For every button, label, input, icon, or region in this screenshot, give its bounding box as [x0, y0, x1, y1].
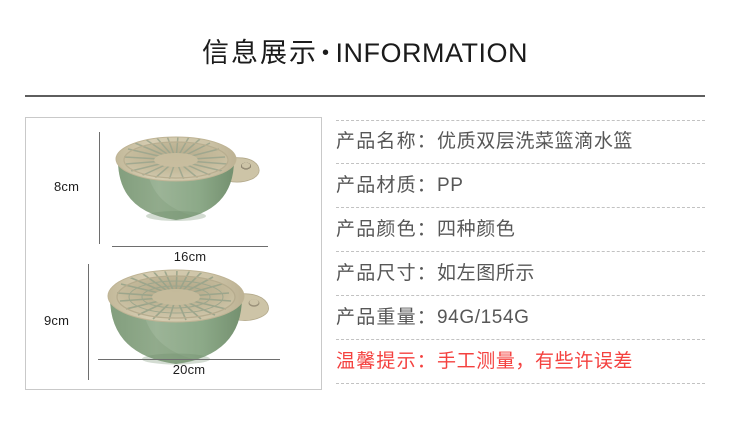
spec-material: 产品材质：PP: [336, 164, 705, 208]
height-label-small: 8cm: [54, 179, 79, 194]
spec-color-value: 四种颜色: [437, 219, 515, 240]
spec-material-label: 产品材质：: [336, 175, 437, 196]
height-measure-line-large: [88, 264, 89, 380]
spec-color: 产品颜色：四种颜色: [336, 208, 705, 252]
spec-weight: 产品重量：94G/154G: [336, 296, 705, 340]
spec-product-name-value: 优质双层洗菜篮滴水篮: [437, 131, 633, 152]
basket-figure-small: 8cm: [26, 122, 323, 256]
spec-product-name-label: 产品名称：: [336, 131, 437, 152]
spec-material-value: PP: [437, 175, 464, 196]
header-divider: [25, 95, 705, 97]
spec-notice-label: 温馨提示：: [336, 351, 437, 372]
spec-size: 产品尺寸：如左图所示: [336, 252, 705, 296]
page-title-en: INFORMATION: [336, 38, 528, 68]
title-bullet-icon: •: [318, 36, 336, 70]
height-label-large: 9cm: [44, 313, 69, 328]
basket-figure-large: 9cm: [26, 256, 323, 389]
product-dimension-panel: 8cm: [25, 117, 322, 390]
width-label-large: 20cm: [98, 362, 280, 377]
spec-notice: 温馨提示：手工测量，有些许误差: [336, 340, 705, 384]
spec-weight-label: 产品重量：: [336, 307, 437, 328]
height-measure-line-small: [99, 132, 100, 244]
strainer-basket-small-image: [104, 130, 274, 242]
spec-product-name: 产品名称：优质双层洗菜篮滴水篮: [336, 120, 705, 164]
product-spec-list: 产品名称：优质双层洗菜篮滴水篮 产品材质：PP 产品颜色：四种颜色 产品尺寸：如…: [336, 120, 705, 384]
spec-weight-value: 94G/154G: [437, 307, 529, 328]
spec-size-value: 如左图所示: [437, 263, 535, 284]
page-title: 信息展示•INFORMATION: [0, 36, 730, 73]
spec-color-label: 产品颜色：: [336, 219, 437, 240]
page-header: 信息展示•INFORMATION: [0, 36, 730, 73]
width-measure-line-small: [112, 246, 268, 247]
page-title-cn: 信息展示: [202, 38, 318, 68]
width-measure-line-large: [98, 359, 280, 360]
spec-size-label: 产品尺寸：: [336, 263, 437, 284]
spec-notice-value: 手工测量，有些许误差: [437, 351, 633, 372]
